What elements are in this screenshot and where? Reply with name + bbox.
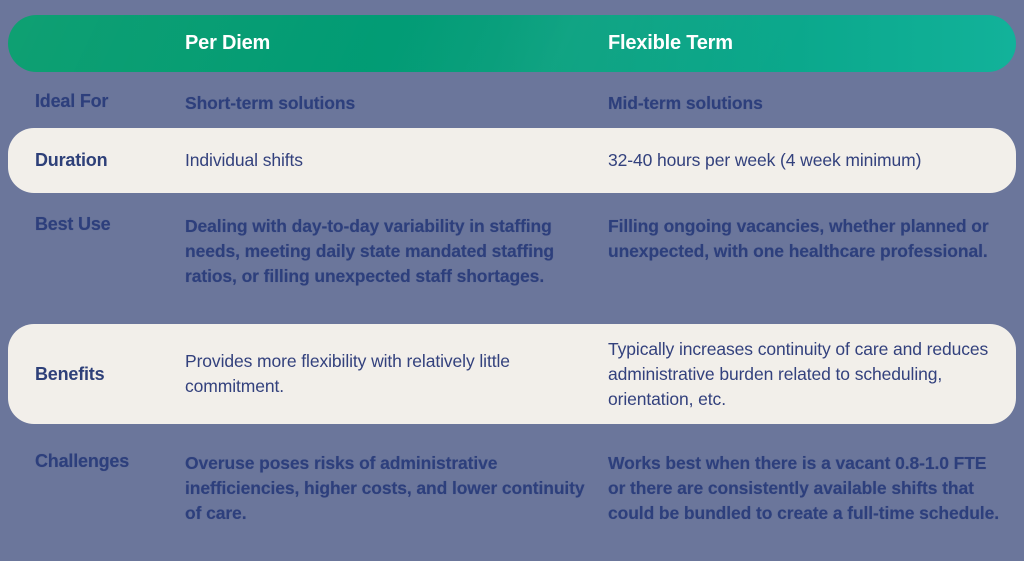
table-row: Benefits Provides more flexibility with … [8, 324, 1016, 424]
table-header-row: Per Diem Flexible Term [8, 15, 1016, 72]
row-label-ideal-for: Ideal For [8, 84, 185, 112]
cell-duration-per-diem: Individual shifts [185, 148, 608, 173]
row-label-challenges: Challenges [8, 440, 185, 472]
header-column-flexible-term: Flexible Term [608, 32, 1016, 55]
cell-benefits-flexible-term: Typically increases continuity of care a… [608, 337, 1016, 412]
table-row: Challenges Overuse poses risks of admini… [8, 440, 1016, 561]
table-row: Duration Individual shifts 32-40 hours p… [8, 128, 1016, 193]
cell-duration-flexible-term: 32-40 hours per week (4 week minimum) [608, 148, 1016, 173]
row-label-benefits: Benefits [8, 364, 185, 385]
cell-ideal-for-per-diem: Short-term solutions [185, 84, 608, 116]
table-row: Ideal For Short-term solutions Mid-term … [8, 84, 1016, 128]
cell-ideal-for-flexible-term: Mid-term solutions [608, 84, 1016, 116]
cell-best-use-per-diem: Dealing with day-to-day variability in s… [185, 205, 608, 289]
cell-challenges-flexible-term: Works best when there is a vacant 0.8-1.… [608, 440, 1016, 526]
row-label-best-use: Best Use [8, 205, 185, 235]
cell-best-use-flexible-term: Filling ongoing vacancies, whether plann… [608, 205, 1016, 264]
row-label-duration: Duration [8, 150, 185, 171]
table-row: Best Use Dealing with day-to-day variabi… [8, 205, 1016, 324]
header-column-per-diem: Per Diem [185, 32, 608, 55]
cell-challenges-per-diem: Overuse poses risks of administrative in… [185, 440, 608, 526]
cell-benefits-per-diem: Provides more flexibility with relativel… [185, 349, 608, 399]
comparison-table: Per Diem Flexible Term Ideal For Short-t… [0, 0, 1024, 561]
